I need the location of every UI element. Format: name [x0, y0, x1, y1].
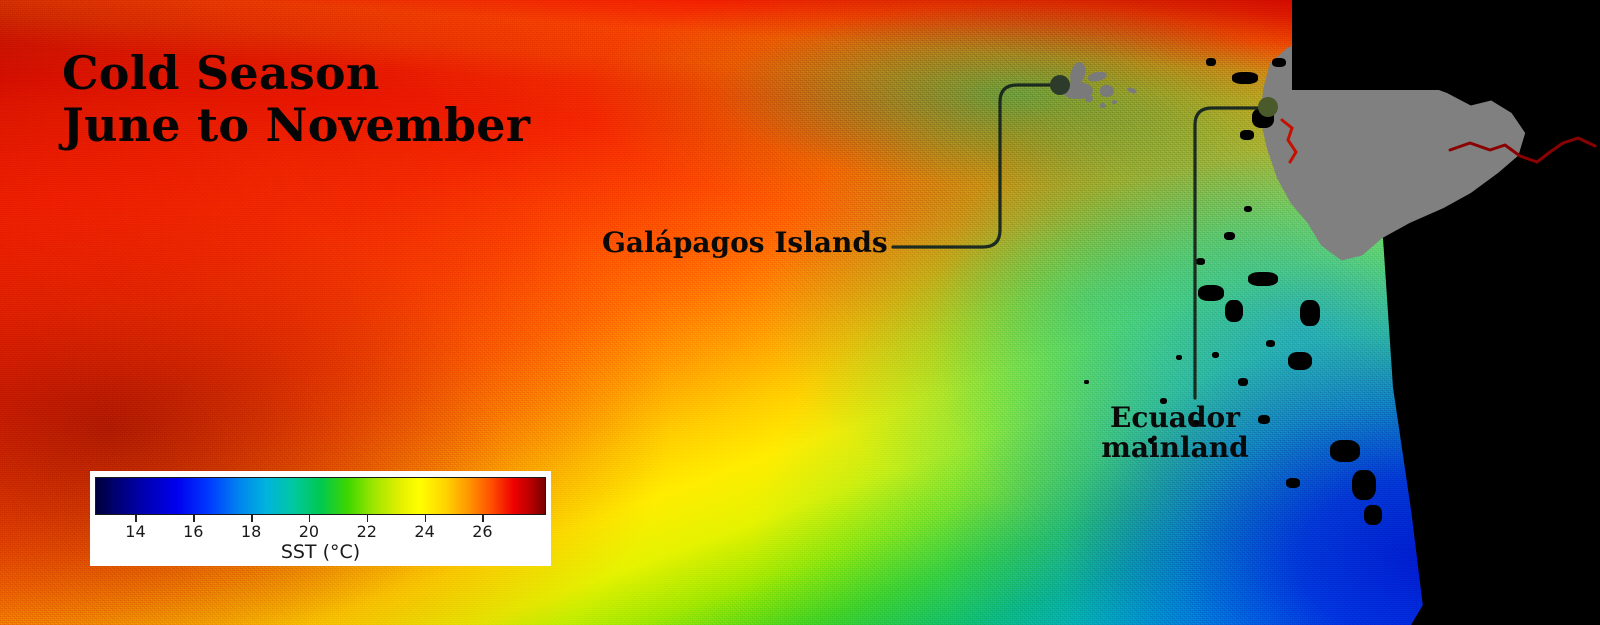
callout-ecuador-line-1: Ecuador [1100, 403, 1250, 433]
colorbar-tick-label-18: 18 [241, 522, 261, 541]
colorbar-tick-26 [482, 515, 484, 522]
colorbar-tick-16 [193, 515, 195, 522]
sst-map-figure: Cold Season June to November Galápagos I… [0, 0, 1600, 625]
sst-colorbar-legend: 14161820222426 SST (°C) [90, 471, 551, 566]
colorbar-tick-14 [135, 515, 137, 522]
colorbar-tick-label-24: 24 [414, 522, 434, 541]
colorbar-tick-label-22: 22 [357, 522, 377, 541]
colorbar-tick-label-20: 20 [299, 522, 319, 541]
colorbar-axis-title: SST (°C) [90, 541, 551, 563]
colorbar-gradient [96, 478, 545, 514]
colorbar-tick-label-16: 16 [183, 522, 203, 541]
colorbar-tick-label-14: 14 [125, 522, 145, 541]
galapagos-island-san-cristobal [1100, 85, 1114, 97]
colorbar-tick-20 [309, 515, 311, 522]
land-mask-northeast [1292, 0, 1600, 90]
galapagos-island-espanola [1100, 103, 1106, 108]
colorbar-tick-label-26: 26 [472, 522, 492, 541]
colorbar-tick-18 [251, 515, 253, 522]
callout-ecuador-line-2: mainland [1100, 433, 1250, 463]
colorbar-frame [95, 477, 546, 515]
callout-label-galapagos: Galápagos Islands [602, 228, 888, 258]
colorbar-tick-22 [367, 515, 369, 522]
title-line-2: June to November [62, 100, 530, 152]
colorbar-tick-24 [425, 515, 427, 522]
callout-label-ecuador: Ecuador mainland [1100, 403, 1250, 463]
galapagos-island-floreana [1085, 95, 1093, 102]
title-line-1: Cold Season [62, 46, 379, 100]
map-title: Cold Season June to November [62, 48, 530, 151]
galapagos-island-minor [1112, 100, 1117, 104]
